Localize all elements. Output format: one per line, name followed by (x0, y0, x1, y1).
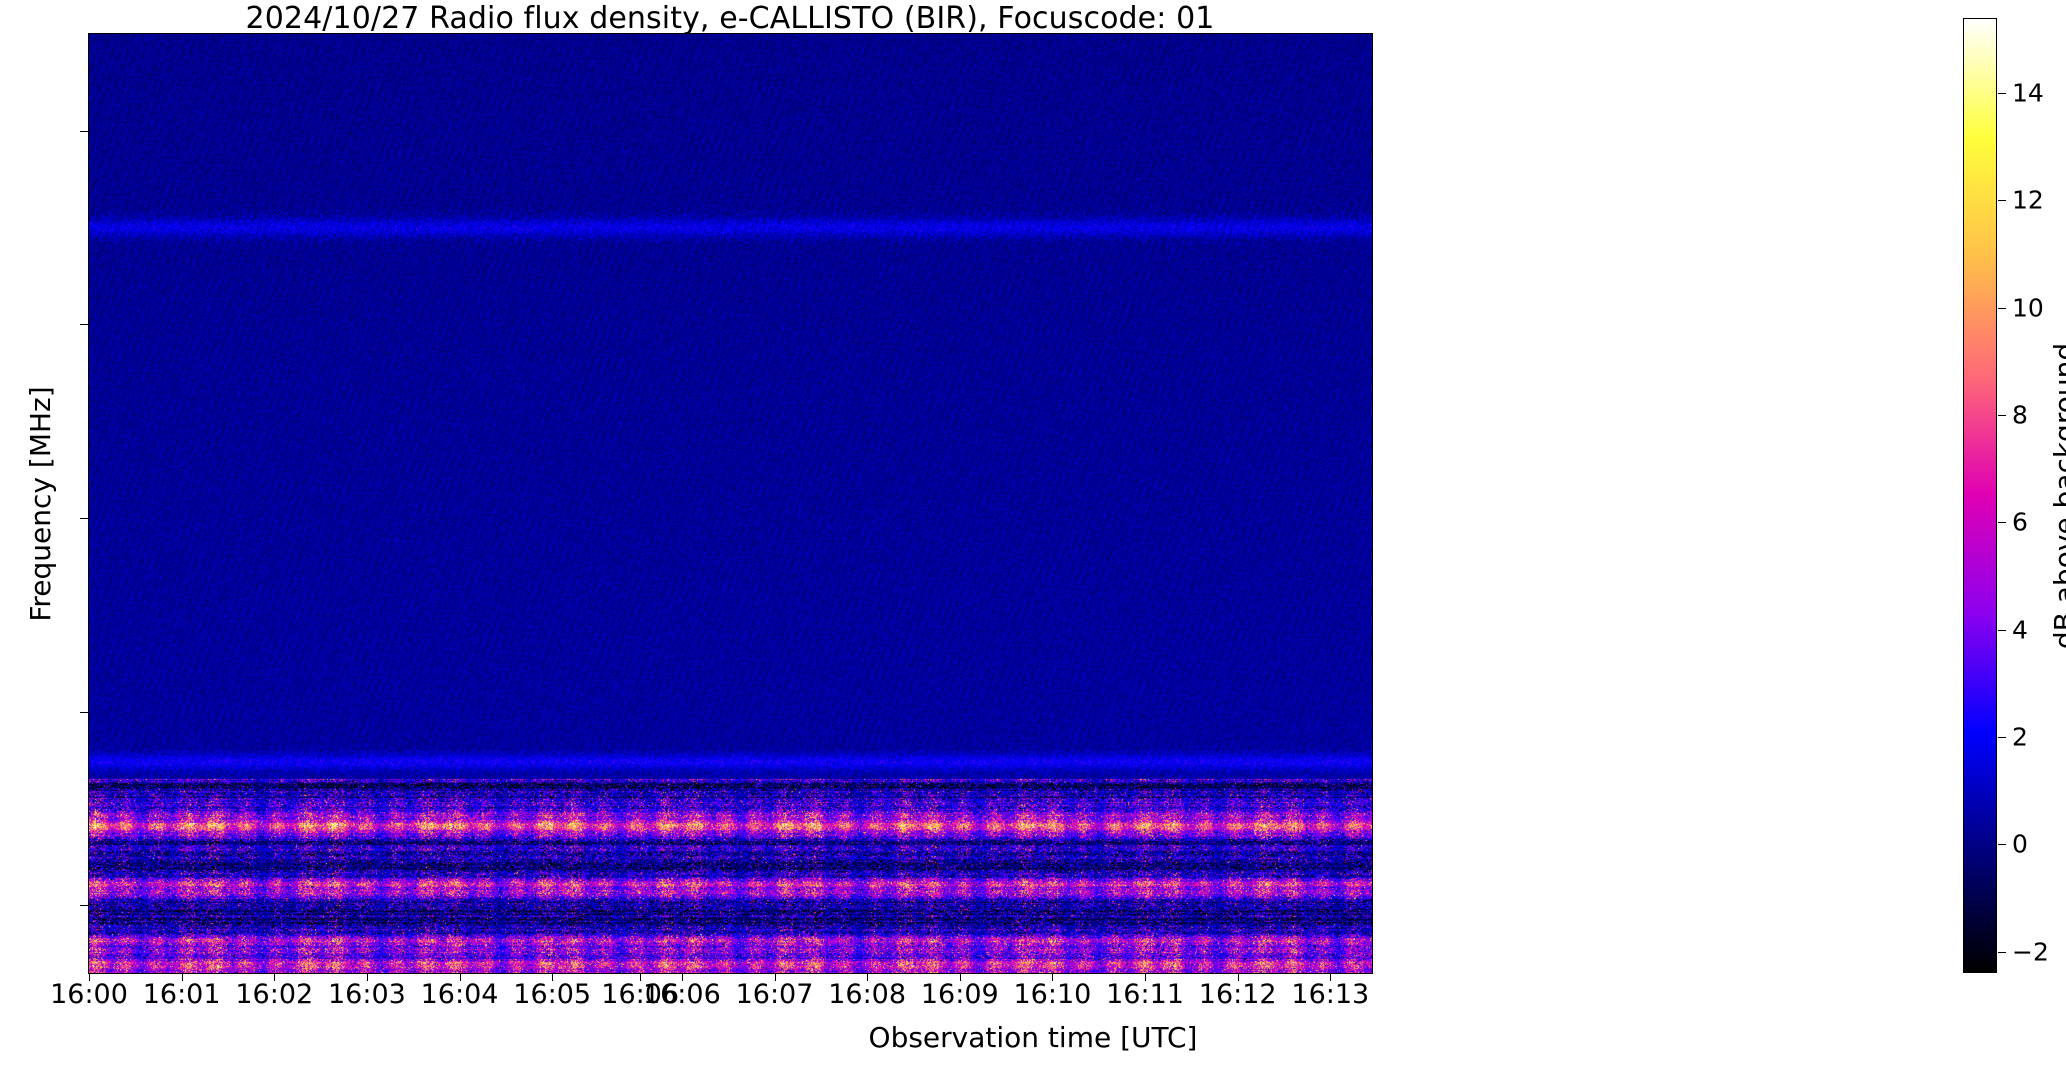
colorbar-tick-label: 8 (2012, 403, 2028, 428)
x-tick-label: 16:11 (1106, 981, 1184, 1009)
y-tick-mark (80, 324, 88, 325)
y-axis-label: Frequency [MHz] (24, 386, 57, 621)
colorbar-tick-mark (1998, 93, 2006, 94)
colorbar-tick-label: −2 (2012, 939, 2049, 964)
x-tick-mark (775, 973, 776, 981)
x-tick-mark (182, 973, 183, 981)
colorbar-tick-mark (1998, 952, 2006, 953)
x-tick-mark (460, 973, 461, 981)
x-tick-mark (640, 973, 641, 981)
colorbar-tick-mark (1998, 308, 2006, 309)
colorbar-tick-label: 0 (2012, 832, 2028, 857)
colorbar-tick-label: 14 (2012, 81, 2044, 106)
colorbar-tick-mark (1998, 630, 2006, 631)
y-tick-mark (80, 712, 88, 713)
x-tick-mark (1052, 973, 1053, 981)
x-tick-label: 16:03 (328, 981, 406, 1009)
x-tick-mark (1330, 973, 1331, 981)
x-tick-label: 16:12 (1199, 981, 1277, 1009)
colorbar-tick-mark (1998, 737, 2006, 738)
y-tick-mark (80, 518, 88, 519)
colorbar-tick-label: 12 (2012, 188, 2044, 213)
colorbar-tick-mark (1998, 415, 2006, 416)
x-tick-mark (1145, 973, 1146, 981)
x-tick-mark (552, 973, 553, 981)
y-tick-mark (80, 905, 88, 906)
colorbar-gradient (1964, 19, 1996, 972)
colorbar-tick-mark (1998, 844, 2006, 845)
x-tick-mark (682, 973, 683, 981)
x-tick-label: 16:01 (143, 981, 221, 1009)
colorbar (1963, 18, 1997, 973)
x-tick-label: 16:13 (1291, 981, 1369, 1009)
colorbar-tick-label: 10 (2012, 295, 2044, 320)
colorbar-label: dB above background (2048, 342, 2066, 648)
chart-title: 2024/10/27 Radio flux density, e-CALLIST… (0, 2, 1460, 36)
x-tick-mark (89, 973, 90, 981)
colorbar-tick-label: 6 (2012, 510, 2028, 535)
x-tick-mark (1238, 973, 1239, 981)
x-tick-label: 16:07 (736, 981, 814, 1009)
spectrogram-axes (88, 33, 1373, 974)
colorbar-tick-mark (1998, 200, 2006, 201)
colorbar-tick-label: 4 (2012, 617, 2028, 642)
x-tick-label: 16:08 (828, 981, 906, 1009)
colorbar-tick-label: 2 (2012, 724, 2028, 749)
x-tick-mark (960, 973, 961, 981)
x-axis-label: Observation time [UTC] (0, 1022, 2066, 1054)
x-tick-mark (867, 973, 868, 981)
y-tick-mark (80, 131, 88, 132)
x-tick-label: 16:04 (421, 981, 499, 1009)
x-tick-label: 16:00 (50, 981, 128, 1009)
colorbar-tick-mark (1998, 522, 2006, 523)
x-tick-mark (367, 973, 368, 981)
x-tick-label: 16:09 (921, 981, 999, 1009)
x-tick-label: 16:06 (643, 981, 721, 1009)
figure: 2024/10/27 Radio flux density, e-CALLIST… (0, 0, 2066, 1067)
x-tick-mark (274, 973, 275, 981)
x-tick-label: 16:10 (1014, 981, 1092, 1009)
spectrogram-image (89, 34, 1372, 973)
x-tick-label: 16:02 (235, 981, 313, 1009)
x-tick-label: 16:05 (513, 981, 591, 1009)
